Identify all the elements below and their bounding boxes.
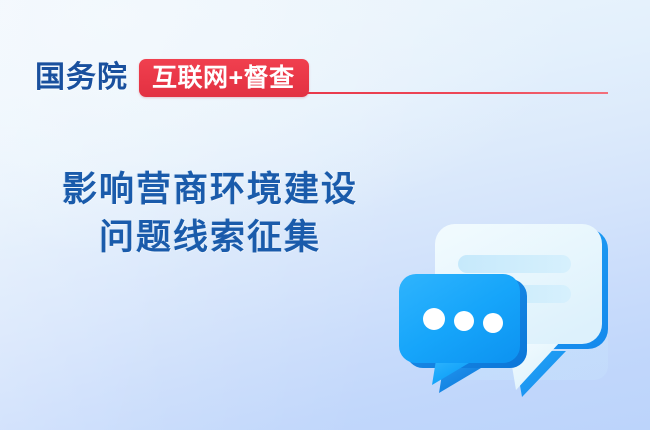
page-title-line-1: 影响营商环境建设 [0, 166, 420, 214]
chat-bubbles-illustration [398, 196, 634, 404]
page-title: 影响营商环境建设 问题线索征集 [0, 166, 420, 262]
organization-title: 国务院 [35, 63, 128, 93]
program-badge: 互联网+督查 [139, 59, 309, 97]
page-title-line-2: 问题线索征集 [0, 214, 420, 262]
program-badge-label: 互联网+督查 [152, 66, 295, 91]
header-divider-rule [288, 92, 608, 94]
banner-header: 国务院 互联网+督查 [35, 58, 309, 98]
campaign-banner: 国务院 互联网+督查 影响营商环境建设 问题线索征集 [0, 0, 650, 430]
